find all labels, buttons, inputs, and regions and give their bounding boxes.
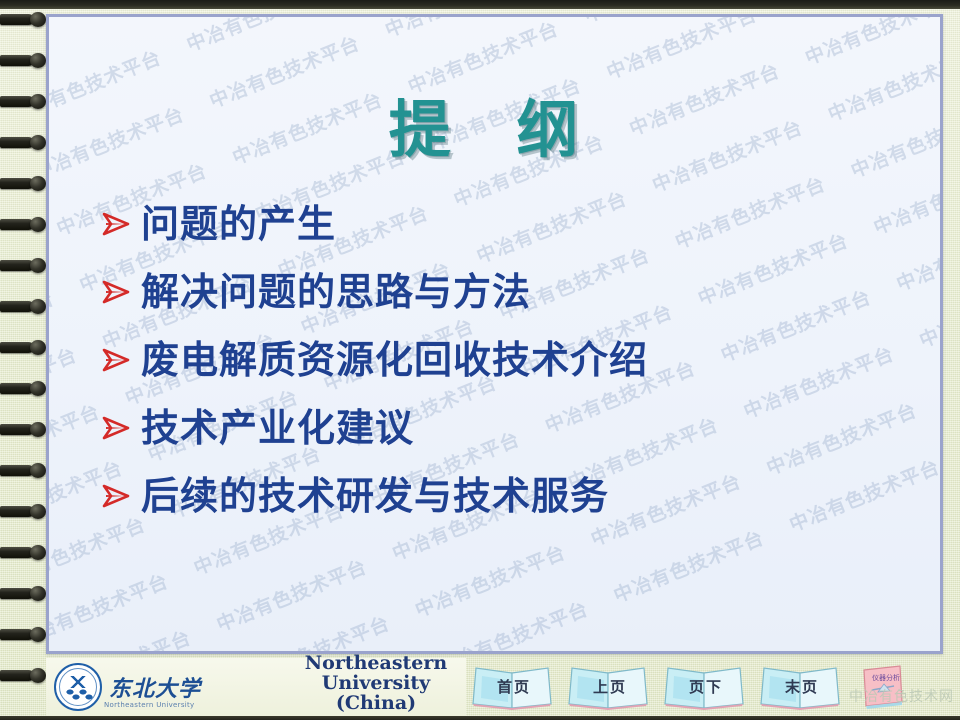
list-item-label: 技术产业化建议: [141, 409, 414, 447]
watermark-text: 中冶有色技术平台: [46, 622, 198, 654]
spiral-ring: [0, 96, 34, 107]
watermark-text: 中冶有色技术平台: [381, 14, 543, 43]
spiral-ring: [0, 424, 34, 435]
watermark-text: 中冶有色技术平台: [938, 323, 943, 409]
spiral-ring: [0, 342, 34, 353]
arrow-bullet-icon: [101, 210, 141, 238]
arrow-bullet-icon: [101, 278, 141, 306]
list-item: 废电解质资源化回收技术介绍: [101, 329, 910, 391]
spiral-ring: [0, 178, 34, 189]
svg-text:仪器分析: 仪器分析: [872, 673, 900, 682]
nav-button-last-page[interactable]: 末页: [758, 664, 842, 710]
page-title: 提 纲: [49, 79, 940, 169]
spiral-ring-knob: [30, 504, 46, 519]
list-item-label: 问题的产生: [141, 205, 336, 243]
spiral-ring-knob: [30, 545, 46, 560]
university-name-en-line2: (China): [251, 694, 501, 714]
list-item-label: 废电解质资源化回收技术介绍: [141, 341, 648, 379]
slide-card: 中冶有色技术平台中冶有色技术平台中冶有色技术平台中冶有色技术平台中冶有色技术平台…: [46, 14, 943, 654]
spiral-ring-knob: [30, 176, 46, 191]
spiral-ring-knob: [30, 258, 46, 273]
watermark-text: 中冶有色技术平台: [915, 267, 943, 353]
watermark-text: 中冶有色技术平台: [235, 607, 397, 654]
spiral-ring-knob: [30, 135, 46, 150]
spiral-ring-knob: [30, 463, 46, 478]
spiral-ring-knob: [30, 627, 46, 642]
watermark-text: 中冶有色技术平台: [801, 14, 943, 70]
slide-stage: 中冶有色技术平台中冶有色技术平台中冶有色技术平台中冶有色技术平台中冶有色技术平台…: [0, 0, 960, 720]
spiral-ring-knob: [30, 381, 46, 396]
watermark-text: 中冶有色技术平台: [46, 282, 61, 368]
nav-button-first-page[interactable]: 首页: [470, 664, 554, 710]
spiral-ring: [0, 260, 34, 271]
list-item: 解决问题的思路与方法: [101, 261, 910, 323]
university-name-en-line1: Northeastern University: [251, 654, 501, 694]
spiral-ring: [0, 588, 34, 599]
university-name-cn: 东北大学: [109, 671, 201, 703]
list-item: 后续的技术研发与技术服务: [101, 465, 910, 527]
nav-button-prev-page[interactable]: 上页: [566, 664, 650, 710]
list-item-label: 解决问题的思路与方法: [141, 273, 531, 311]
watermark-text: 中冶有色技术平台: [579, 14, 741, 28]
spiral-ring: [0, 14, 34, 25]
spiral-ring: [0, 137, 34, 148]
spiral-ring: [0, 383, 34, 394]
list-item: 问题的产生: [101, 193, 910, 255]
spiral-ring: [0, 55, 34, 66]
spiral-ring-knob: [30, 586, 46, 601]
arrow-bullet-icon: [101, 482, 141, 510]
university-name-en: Northeastern University (China): [251, 654, 501, 714]
spiral-ring: [0, 465, 34, 476]
spiral-ring-knob: [30, 340, 46, 355]
spiral-ring-knob: [30, 217, 46, 232]
arrow-bullet-icon: [101, 346, 141, 374]
watermark-text: 中冶有色技术平台: [46, 396, 107, 482]
spiral-ring: [0, 219, 34, 230]
spiral-ring-knob: [30, 12, 46, 27]
watermark-text: 中冶有色技术平台: [46, 339, 84, 425]
spiral-ring-knob: [30, 422, 46, 437]
spiral-ring: [0, 301, 34, 312]
spiral-ring: [0, 629, 34, 640]
corner-watermark: 中冶有色技术网: [849, 686, 954, 706]
arrow-bullet-icon: [101, 414, 141, 442]
spiral-ring-knob: [30, 53, 46, 68]
watermark-text: 中冶有色技术平台: [602, 14, 764, 85]
list-item: 技术产业化建议: [101, 397, 910, 459]
top-edge-shadow: [0, 0, 960, 9]
bottom-edge-shadow: [0, 716, 960, 720]
watermark-text: 中冶有色技术平台: [212, 551, 374, 637]
watermark-text: 中冶有色技术平台: [609, 522, 771, 608]
list-item-label: 后续的技术研发与技术服务: [141, 477, 609, 515]
slide-footer: 东北大学 Northeastern University Northeaster…: [0, 654, 960, 716]
spiral-ring-knob: [30, 299, 46, 314]
spiral-ring: [0, 547, 34, 558]
spiral-ring-knob: [30, 94, 46, 109]
watermark-text: 中冶有色技术平台: [182, 14, 344, 57]
watermark-text: 中冶有色技术平台: [46, 565, 175, 651]
bullet-list: 问题的产生解决问题的思路与方法废电解质资源化回收技术介绍技术产业化建议后续的技术…: [101, 193, 910, 533]
spiral-ring: [0, 506, 34, 517]
watermark-text: 中冶有色技术平台: [411, 536, 573, 622]
university-emblem-icon: [54, 663, 102, 711]
emblem-caption: Northeastern University: [104, 701, 195, 709]
watermark-text: 中冶有色技术平台: [433, 593, 595, 654]
nav-button-next-page[interactable]: 页下: [662, 664, 746, 710]
university-branding: 东北大学 Northeastern University Northeaster…: [46, 658, 466, 716]
